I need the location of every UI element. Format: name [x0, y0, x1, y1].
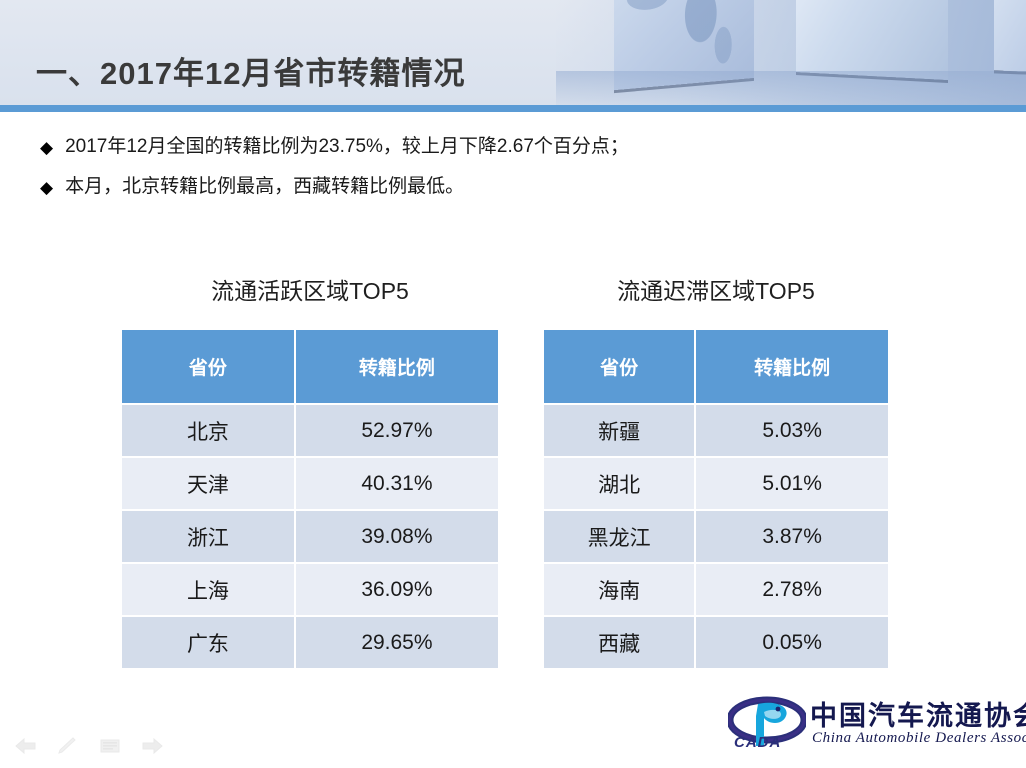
table-header-row: 省份 转籍比例: [543, 329, 889, 404]
table-row: 黑龙江 3.87%: [543, 510, 889, 563]
bullet-list: ◆ 2017年12月全国的转籍比例为23.75%，较上月下降2.67个百分点； …: [40, 134, 940, 213]
pen-tool-icon[interactable]: [56, 736, 80, 756]
cell-province: 天津: [121, 457, 295, 510]
cell-ratio: 0.05%: [695, 616, 889, 669]
table-row: 湖北 5.01%: [543, 457, 889, 510]
page-title: 一、2017年12月省市转籍情况: [36, 48, 465, 93]
table-row: 北京 52.97%: [121, 404, 499, 457]
table-caption-right: 流通迟滞区域TOP5: [542, 272, 890, 306]
cell-ratio: 3.87%: [695, 510, 889, 563]
cell-ratio: 5.01%: [695, 457, 889, 510]
cell-ratio: 2.78%: [695, 563, 889, 616]
cell-ratio: 52.97%: [295, 404, 499, 457]
cell-province: 西藏: [543, 616, 695, 669]
cube-icon: [994, 0, 1026, 74]
menu-icon[interactable]: [98, 736, 122, 756]
slide-header: 一、2017年12月省市转籍情况: [0, 0, 1026, 105]
list-item: ◆ 2017年12月全国的转籍比例为23.75%，较上月下降2.67个百分点；: [40, 134, 940, 160]
cell-ratio: 29.65%: [295, 616, 499, 669]
logo-name-cn: 中国汽车流通协会: [810, 694, 1026, 733]
header-divider: [0, 105, 1026, 112]
cell-ratio: 39.08%: [295, 510, 499, 563]
bullet-text: 本月，北京转籍比例最高，西藏转籍比例最低。: [65, 174, 464, 200]
cell-province: 北京: [121, 404, 295, 457]
table-row: 天津 40.31%: [121, 457, 499, 510]
cada-logo: CADA 中国汽车流通协会 China Automobile Dealers A…: [728, 694, 1020, 760]
table-row: 浙江 39.08%: [121, 510, 499, 563]
cell-ratio: 36.09%: [295, 563, 499, 616]
cell-province: 上海: [121, 563, 295, 616]
cell-ratio: 5.03%: [695, 404, 889, 457]
table-row: 广东 29.65%: [121, 616, 499, 669]
column-header-province: 省份: [121, 329, 295, 404]
cell-province: 新疆: [543, 404, 695, 457]
diamond-bullet-icon: ◆: [40, 179, 53, 196]
table-caption-left: 流通活跃区域TOP5: [120, 272, 500, 306]
diamond-bullet-icon: ◆: [40, 139, 53, 156]
column-header-ratio: 转籍比例: [295, 329, 499, 404]
cube-icon: [796, 0, 948, 80]
cell-ratio: 40.31%: [295, 457, 499, 510]
next-slide-icon[interactable]: [140, 736, 164, 756]
cell-province: 湖北: [543, 457, 695, 510]
table-row: 新疆 5.03%: [543, 404, 889, 457]
cell-province: 黑龙江: [543, 510, 695, 563]
logo-name-en: China Automobile Dealers Association: [812, 730, 1026, 747]
lagging-regions-table: 省份 转籍比例 新疆 5.03% 湖北 5.01% 黑龙江 3.87% 海南 2…: [542, 328, 890, 670]
cell-province: 浙江: [121, 510, 295, 563]
active-regions-table: 省份 转籍比例 北京 52.97% 天津 40.31% 浙江 39.08% 上海…: [120, 328, 500, 670]
previous-slide-icon[interactable]: [14, 736, 38, 756]
cada-abbr: CADA: [734, 734, 781, 751]
table-header-row: 省份 转籍比例: [121, 329, 499, 404]
table-row: 海南 2.78%: [543, 563, 889, 616]
bullet-text: 2017年12月全国的转籍比例为23.75%，较上月下降2.67个百分点；: [65, 134, 629, 160]
lagging-regions-table-block: 流通迟滞区域TOP5 省份 转籍比例 新疆 5.03% 湖北 5.01% 黑龙江…: [542, 272, 890, 670]
header-cube-graphic: [556, 0, 1026, 105]
table-row: 上海 36.09%: [121, 563, 499, 616]
cell-province: 海南: [543, 563, 695, 616]
table-row: 西藏 0.05%: [543, 616, 889, 669]
list-item: ◆ 本月，北京转籍比例最高，西藏转籍比例最低。: [40, 174, 940, 200]
active-regions-table-block: 流通活跃区域TOP5 省份 转籍比例 北京 52.97% 天津 40.31% 浙…: [120, 272, 500, 670]
column-header-province: 省份: [543, 329, 695, 404]
header-floor-shadow: [556, 71, 1026, 105]
slideshow-nav-bar: [14, 736, 164, 756]
column-header-ratio: 转籍比例: [695, 329, 889, 404]
cell-province: 广东: [121, 616, 295, 669]
